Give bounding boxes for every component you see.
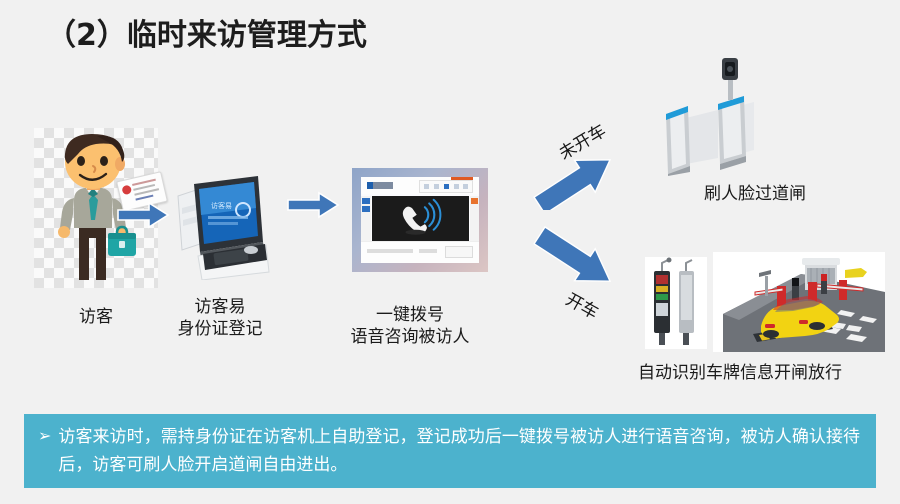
app-left-panel <box>361 196 371 241</box>
slide-canvas: （2）临时来访管理方式 <box>0 0 900 504</box>
parking-entrance-icon <box>713 252 885 352</box>
app-logo-icon <box>367 182 393 189</box>
app-titlebar <box>361 177 479 194</box>
step-label-kiosk: 访客易 身份证登记 <box>150 296 290 340</box>
summary-callout-text: 访客来访时，需持身份证在访客机上自助登记，登记成功后一键拨号被访人进行语音咨询，… <box>58 423 860 479</box>
status-field <box>367 249 413 253</box>
bullet-arrow-icon: ➢ <box>38 423 51 449</box>
toolbar-icon <box>463 184 468 189</box>
arrow-visitor-to-kiosk-icon <box>116 200 170 230</box>
toolbar-icon <box>424 184 429 189</box>
speed-gate-turnstile <box>652 58 778 176</box>
parking-terminal-icon <box>645 257 707 349</box>
outcome-label-plate-gate: 自动识别车牌信息开闸放行 <box>585 362 895 384</box>
summary-callout: ➢ 访客来访时，需持身份证在访客机上自助登记，登记成功后一键拨号被访人进行语音咨… <box>24 414 876 488</box>
app-action-button[interactable] <box>445 246 473 258</box>
arrow-kiosk-to-call-icon <box>286 190 340 220</box>
turnstile-icon <box>652 58 778 176</box>
status-field <box>419 249 437 253</box>
software-call-window <box>352 168 488 272</box>
app-toolbar <box>419 180 473 193</box>
app-window <box>361 177 479 263</box>
step-label-call: 一键拨号 语音咨询被访人 <box>310 304 510 348</box>
call-video-area <box>372 196 469 241</box>
id-card-emblem-icon <box>121 184 132 195</box>
arrow-branch-no-car-icon <box>524 150 634 210</box>
page-title: （2）临时来访管理方式 <box>46 10 367 54</box>
svg-text:访客易: 访客易 <box>211 201 232 210</box>
toolbar-icon <box>454 184 459 189</box>
kiosk-icon: 访客易 <box>170 168 270 280</box>
phone-ringing-icon <box>372 196 469 241</box>
parking-terminal-products <box>645 257 707 349</box>
toolbar-icon-active <box>444 184 449 189</box>
outcome-label-face-gate: 刷人脸过道闸 <box>630 183 880 205</box>
visitor-kiosk-terminal: 访客易 <box>170 168 270 280</box>
app-right-panel <box>470 196 479 241</box>
app-statusbar <box>361 241 479 263</box>
arrow-branch-with-car-icon <box>524 226 634 296</box>
toolbar-icon <box>434 184 439 189</box>
parking-barrier-scene <box>713 252 885 352</box>
step-label-visitor: 访客 <box>46 306 146 328</box>
